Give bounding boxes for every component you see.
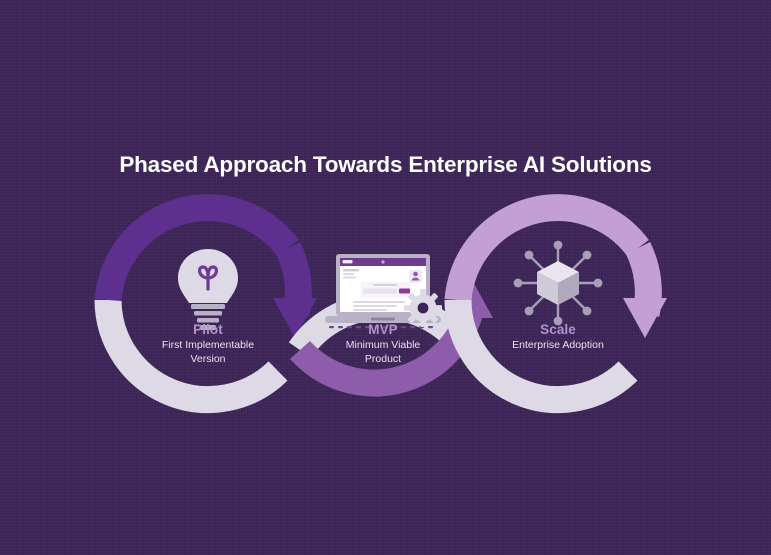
lightbulb-icon [178, 249, 238, 330]
stage-title-pilot: Pilot [108, 322, 308, 338]
stage-ring-pilot [108, 208, 317, 400]
stage-subtitle-mvp-line2: Product [283, 353, 483, 366]
page-title: Phased Approach Towards Enterprise AI So… [0, 152, 771, 178]
stage-subtitle-mvp-line1: Minimum Viable [283, 339, 483, 352]
stage-subtitle-pilot-line2: Version [108, 353, 308, 366]
stage-title-scale: Scale [458, 322, 658, 338]
stage-label-mvp: MVP Minimum Viable Product [283, 322, 483, 365]
laptop-gear-icon [325, 254, 442, 328]
stage-label-pilot: Pilot First Implementable Version [108, 322, 308, 365]
stage-subtitle-pilot-line1: First Implementable [108, 339, 308, 352]
stage-label-scale: Scale Enterprise Adoption [458, 322, 658, 352]
process-cycle-diagram [0, 190, 771, 415]
network-cube-icon [514, 241, 603, 326]
stage-subtitle-scale-line1: Enterprise Adoption [458, 339, 658, 352]
stage-title-mvp: MVP [283, 322, 483, 338]
slide-canvas: Phased Approach Towards Enterprise AI So… [0, 0, 771, 555]
stage-ring-scale [458, 208, 667, 400]
